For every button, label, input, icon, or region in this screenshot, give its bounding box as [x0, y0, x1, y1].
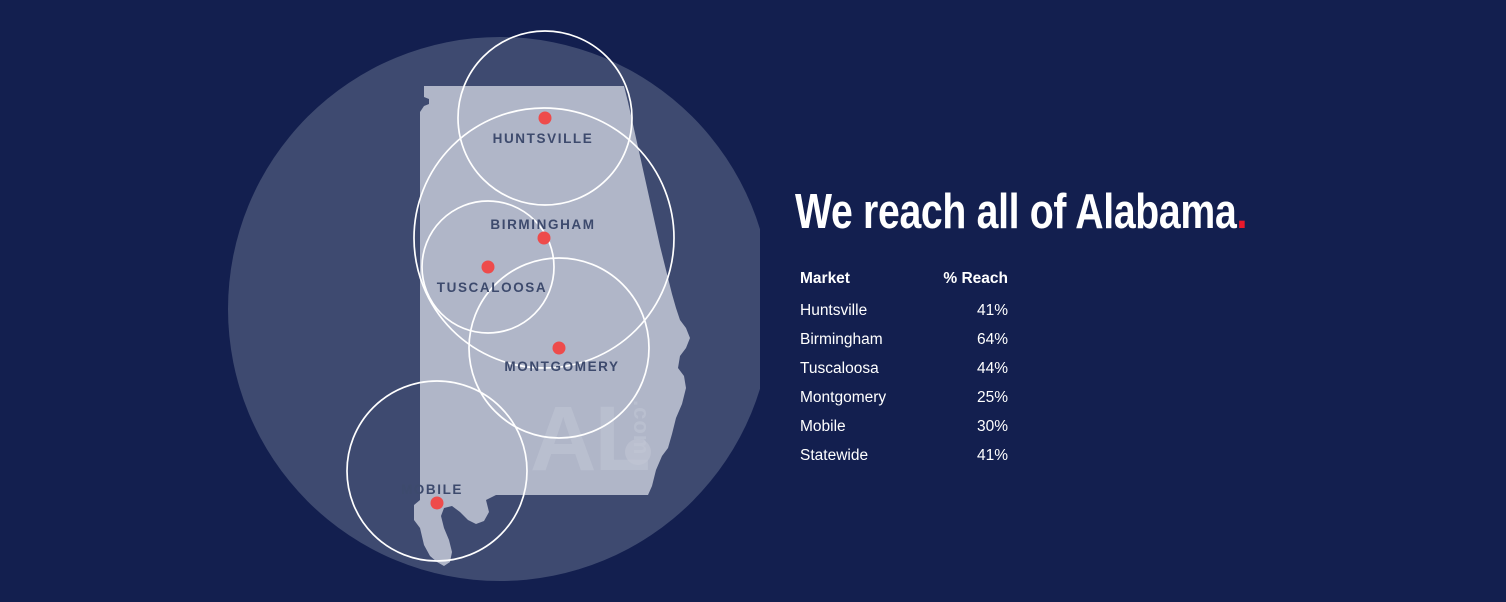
table-row: Birmingham 64%	[800, 325, 1015, 354]
infographic-root: AL .com HUNTSVILLE BIRMINGHAM TUSCALOOS	[0, 0, 1506, 602]
city-dot-icon	[539, 112, 552, 125]
reach-info-panel: We reach all of Alabama. Market % Reach …	[795, 0, 1495, 602]
city-dot-icon	[538, 232, 551, 245]
page-title: We reach all of Alabama.	[795, 186, 1247, 238]
cell-market: Huntsville	[800, 296, 917, 325]
headline-text: We reach all of Alabama	[795, 185, 1236, 239]
cell-market: Birmingham	[800, 325, 917, 354]
column-header-market: Market	[800, 264, 917, 296]
table-row: Montgomery 25%	[800, 383, 1015, 412]
table-row: Mobile 30%	[800, 412, 1015, 441]
city-dot-icon	[431, 497, 444, 510]
cell-reach: 44%	[917, 354, 1015, 383]
cell-market: Montgomery	[800, 383, 917, 412]
table-row: Tuscaloosa 44%	[800, 354, 1015, 383]
city-dot-icon	[553, 342, 566, 355]
cell-reach: 41%	[917, 441, 1015, 470]
reach-table: Market % Reach Huntsville 41% Birmingham…	[800, 264, 1015, 470]
column-header-reach: % Reach	[917, 264, 1015, 296]
watermark-secondary-text: .com	[629, 400, 654, 455]
city-label-huntsville: HUNTSVILLE	[493, 131, 594, 146]
cell-market: Statewide	[800, 441, 917, 470]
cell-reach: 25%	[917, 383, 1015, 412]
cell-reach: 64%	[917, 325, 1015, 354]
table-header-row: Market % Reach	[800, 264, 1015, 296]
city-dot-icon	[482, 261, 495, 274]
table-row: Huntsville 41%	[800, 296, 1015, 325]
cell-market: Mobile	[800, 412, 917, 441]
city-label-birmingham: BIRMINGHAM	[490, 217, 595, 232]
city-label-tuscaloosa: TUSCALOOSA	[437, 280, 548, 295]
map-svg: AL .com HUNTSVILLE BIRMINGHAM TUSCALOOS	[0, 0, 760, 602]
city-label-mobile: MOBILE	[401, 482, 463, 497]
cell-reach: 41%	[917, 296, 1015, 325]
cell-reach: 30%	[917, 412, 1015, 441]
headline-period: .	[1236, 185, 1247, 239]
alabama-reach-map: AL .com HUNTSVILLE BIRMINGHAM TUSCALOOS	[0, 0, 760, 602]
city-label-montgomery: MONTGOMERY	[504, 359, 619, 374]
table-row: Statewide 41%	[800, 441, 1015, 470]
cell-market: Tuscaloosa	[800, 354, 917, 383]
alcom-watermark: AL .com	[530, 388, 654, 490]
